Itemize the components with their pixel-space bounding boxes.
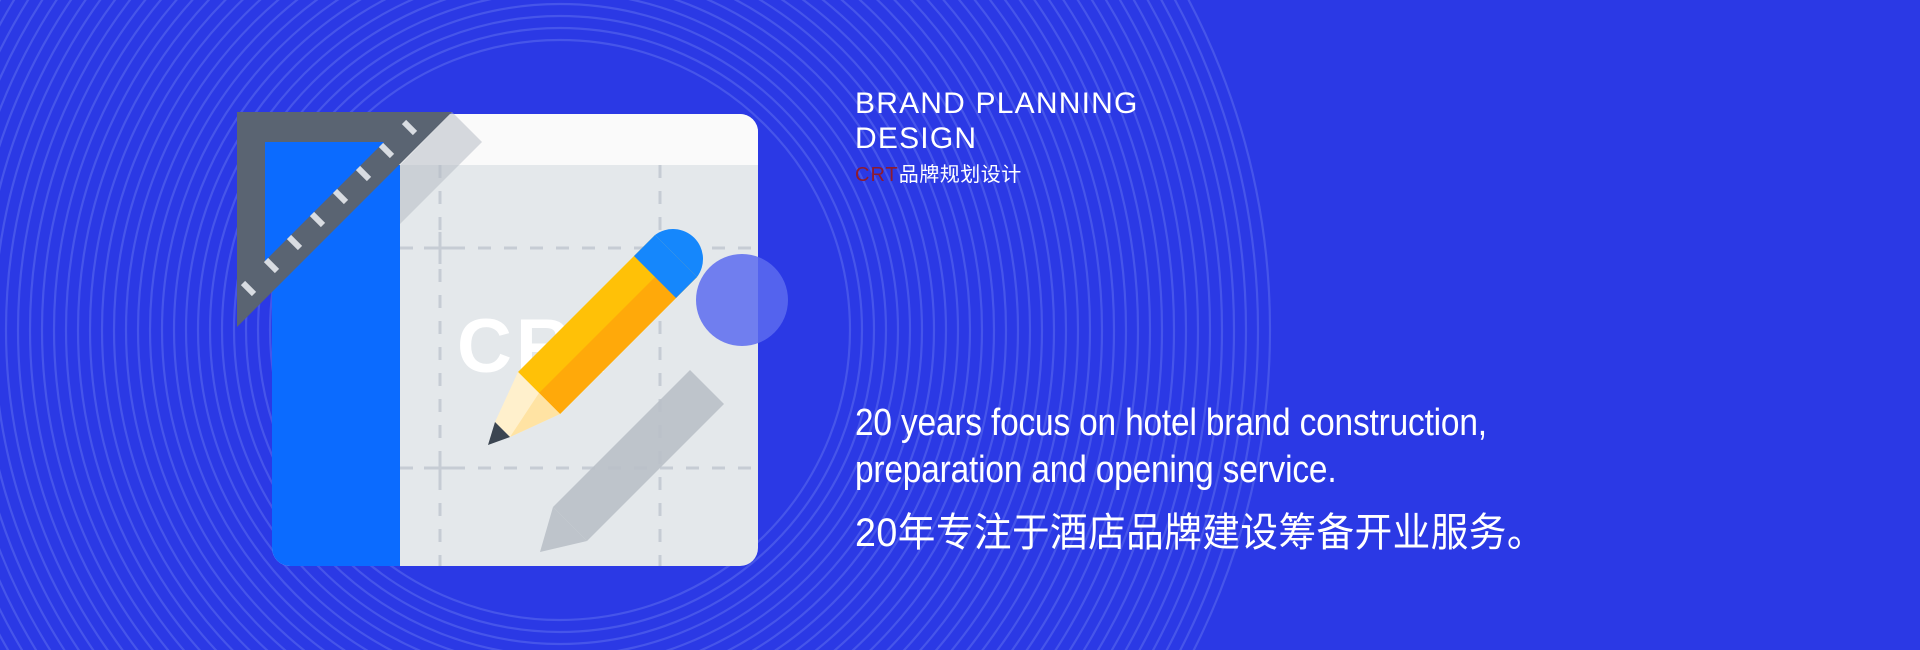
crt-brand-mark: CRT bbox=[855, 164, 899, 186]
tagline-chinese: 20年专注于酒店品牌建设筹备开业服务。 bbox=[855, 508, 1663, 558]
tagline-block: 20 years focus on hotel brand constructi… bbox=[855, 400, 1715, 558]
heading-subtitle: CRT品牌规划设计 bbox=[855, 162, 1455, 188]
brand-banner: CRT bbox=[0, 0, 1920, 650]
heading-line-2: DESIGN bbox=[855, 121, 1455, 156]
heading-block: BRAND PLANNING DESIGN CRT品牌规划设计 bbox=[855, 86, 1455, 188]
eraser-shadow-blob bbox=[696, 254, 788, 346]
tagline-english-line-2: preparation and opening service. bbox=[855, 447, 1612, 494]
tagline-english-line-1: 20 years focus on hotel brand constructi… bbox=[855, 400, 1612, 447]
heading-subtitle-cn: 品牌规划设计 bbox=[899, 164, 1022, 186]
heading-line-1: BRAND PLANNING bbox=[855, 86, 1455, 121]
brand-design-illustration: CRT bbox=[0, 0, 900, 650]
